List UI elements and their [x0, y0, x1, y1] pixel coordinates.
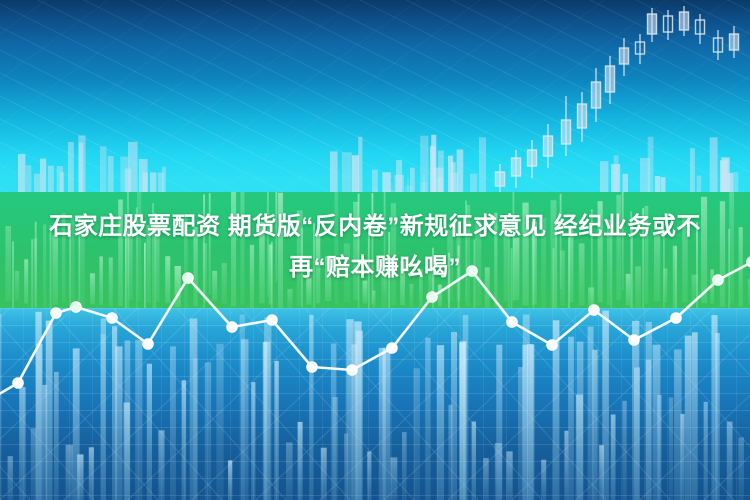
data-point-marker	[347, 365, 357, 375]
data-point-marker	[547, 340, 557, 350]
data-point-marker	[629, 335, 639, 345]
headline-line-1: 石家庄股票配资 期货版“反内卷”新规征求意见 经纪业务或不	[0, 206, 750, 247]
data-point-marker	[589, 305, 599, 315]
data-point-marker	[307, 362, 317, 372]
headline-line-2: 再“赔本赚吆喝”	[0, 247, 750, 288]
data-point-marker	[51, 308, 61, 318]
data-point-marker	[107, 313, 117, 323]
data-point-marker	[71, 302, 81, 312]
page-title: 石家庄股票配资 期货版“反内卷”新规征求意见 经纪业务或不 再“赔本赚吆喝”	[0, 206, 750, 288]
data-point-marker	[13, 378, 23, 388]
data-point-marker	[427, 292, 437, 302]
data-point-marker	[671, 313, 681, 323]
data-point-marker	[143, 339, 153, 349]
banner-image: 石家庄股票配资 期货版“反内卷”新规征求意见 经纪业务或不 再“赔本赚吆喝”	[0, 0, 750, 500]
data-point-marker	[227, 322, 237, 332]
data-point-marker	[387, 343, 397, 353]
data-point-marker	[267, 315, 277, 325]
data-point-marker	[507, 317, 517, 327]
